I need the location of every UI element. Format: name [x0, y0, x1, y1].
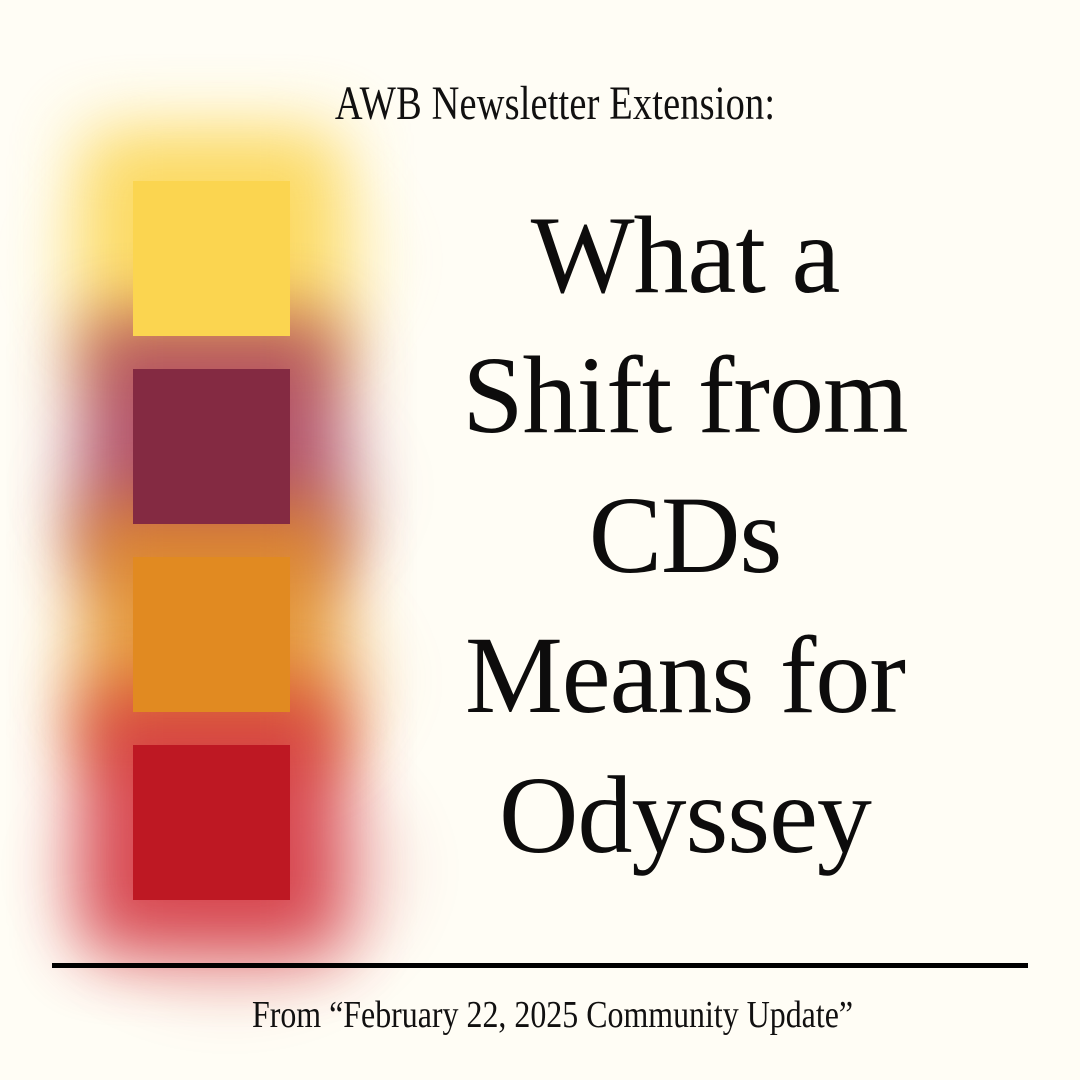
headline: What a Shift from CDs Means for Odyssey — [420, 185, 950, 885]
color-swatch-column — [133, 181, 290, 900]
color-swatch-red — [133, 745, 290, 900]
color-swatch-maroon — [133, 369, 290, 524]
headline-line-1: What a — [420, 185, 950, 325]
headline-line-5: Odyssey — [420, 745, 950, 885]
eyebrow-text: AWB Newsletter Extension: — [111, 78, 999, 130]
swatch-chip-maroon — [133, 369, 290, 524]
color-swatch-orange — [133, 557, 290, 712]
swatch-chip-yellow — [133, 181, 290, 336]
headline-line-3: CDs — [420, 465, 950, 605]
swatch-chip-red — [133, 745, 290, 900]
headline-line-2: Shift from — [420, 325, 950, 465]
horizontal-divider — [52, 963, 1028, 968]
footer-source-text: From “February 22, 2025 Community Update… — [88, 995, 1016, 1037]
color-swatch-yellow — [133, 181, 290, 336]
headline-line-4: Means for — [420, 605, 950, 745]
poster-canvas: AWB Newsletter Extension: What a Shift f… — [0, 0, 1080, 1080]
swatch-chip-orange — [133, 557, 290, 712]
